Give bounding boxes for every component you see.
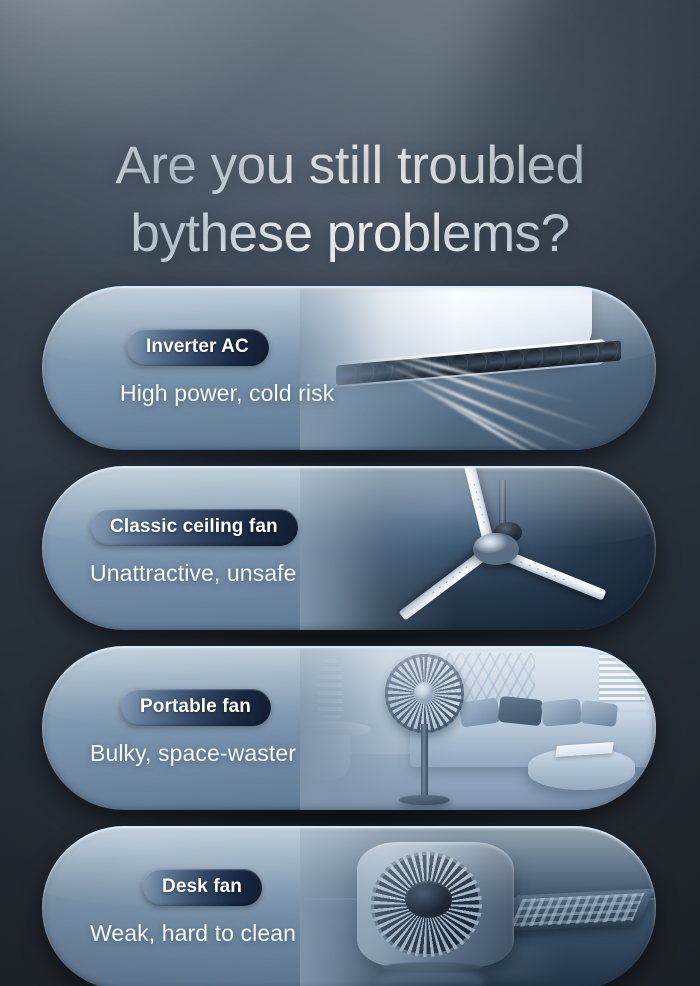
card-text-block: Classic ceiling fan Unattractive, unsafe <box>42 466 423 630</box>
card-tag-label: Desk fan <box>142 869 262 906</box>
page-title: Are you still troubled bythese problems? <box>0 132 700 268</box>
problem-card-inverter-ac[interactable]: Inverter AC High power, cold risk <box>42 286 656 450</box>
problem-card-portable-fan[interactable]: Portable fan Bulky, space-waster <box>42 646 656 810</box>
card-text-block: Desk fan Weak, hard to clean <box>42 826 423 986</box>
card-tag-label: Portable fan <box>120 689 271 726</box>
promo-poster: Are you still troubled bythese problems? <box>0 0 700 986</box>
card-tag-label: Inverter AC <box>126 329 269 366</box>
problem-card-ceiling-fan[interactable]: Classic ceiling fan Unattractive, unsafe <box>42 466 656 630</box>
card-subtitle: Bulky, space-waster <box>90 740 423 767</box>
problem-card-list: Inverter AC High power, cold risk <box>42 286 656 986</box>
card-tag-label: Classic ceiling fan <box>90 509 298 546</box>
card-subtitle: High power, cold risk <box>120 380 423 407</box>
card-subtitle: Unattractive, unsafe <box>90 560 423 587</box>
problem-card-desk-fan[interactable]: Desk fan Weak, hard to clean <box>42 826 656 986</box>
card-text-block: Portable fan Bulky, space-waster <box>42 646 423 810</box>
card-subtitle: Weak, hard to clean <box>90 920 423 947</box>
card-text-block: Inverter AC High power, cold risk <box>42 286 423 450</box>
